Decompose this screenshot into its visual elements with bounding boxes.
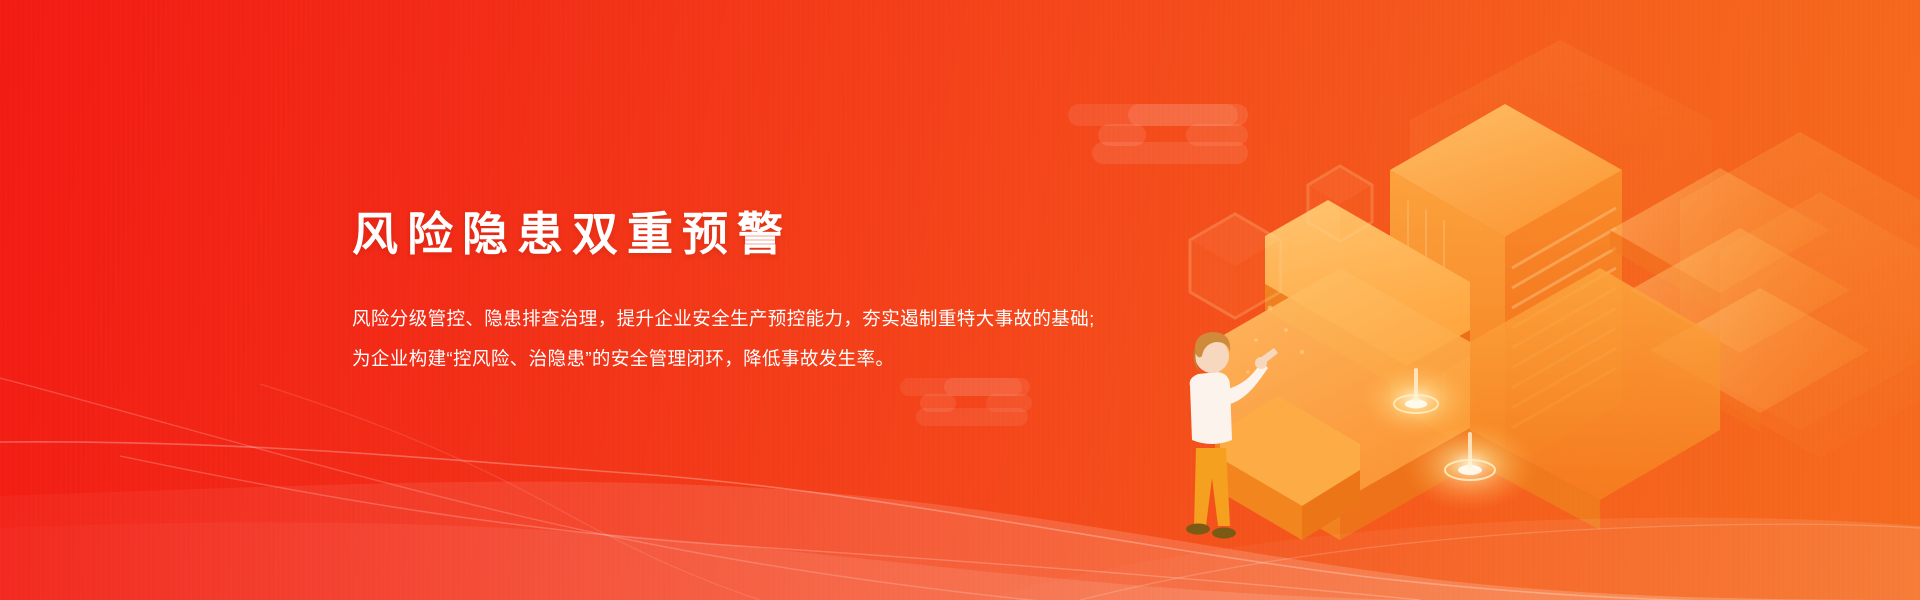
floating-dots: [1246, 306, 1304, 374]
cloud-bar: [1128, 104, 1248, 126]
subtitle-group: 风险分级管控、隐患排查治理，提升企业安全生产预控能力，夯实遏制重特大事故的基础;…: [352, 299, 1232, 379]
cloud-bar: [1068, 104, 1238, 126]
tower-cluster-right: [1680, 132, 1920, 458]
wave-line-4: [1080, 524, 1920, 600]
subtitle-line-2: 为企业构建“控风险、治隐患”的安全管理闭环，降低事故发生率。: [352, 339, 1232, 379]
wave-line-2: [0, 378, 1280, 600]
cloud-bar: [944, 378, 1030, 396]
promo-banner: 风险隐患双重预警 风险分级管控、隐患排查治理，提升企业安全生产预控能力，夯实遏制…: [0, 0, 1920, 600]
stepped-plates: [1610, 168, 1870, 432]
isometric-city-illustration: [1160, 0, 1920, 600]
wave-line-5: [260, 384, 760, 600]
central-tower: [1390, 104, 1622, 470]
cloud-bar: [986, 394, 1032, 412]
wave-fill-primary: [0, 482, 1920, 600]
cloud-bar: [920, 394, 956, 412]
wave-fill-secondary: [0, 522, 1920, 600]
glow-light-point-upper: [1354, 358, 1478, 442]
chinese-cloud-motif-lower: [900, 378, 1080, 424]
hexagon-cube-motif-small: [1308, 166, 1372, 241]
chinese-cloud-motif-top: [1068, 104, 1308, 168]
cloud-bar: [1186, 124, 1248, 146]
tilted-box: [1220, 396, 1360, 540]
cloud-bar: [900, 378, 1022, 396]
banner-text-block: 风险隐患双重预警 风险分级管控、隐患排查治理，提升企业安全生产预控能力，夯实遏制…: [352, 208, 1232, 379]
background-cube-far: [1410, 40, 1712, 400]
cloud-bar: [1098, 124, 1146, 146]
cloud-bar: [1092, 142, 1248, 164]
wave-line-3: [120, 456, 1420, 600]
bright-arm-block: [1265, 200, 1470, 392]
glow-light-point-lower: [1402, 419, 1538, 511]
wave-line-1: [0, 442, 1920, 600]
subtitle-line-1: 风险分级管控、隐患排查治理，提升企业安全生产预控能力，夯实遏制重特大事故的基础;: [352, 299, 1232, 339]
wave-fill-right: [980, 518, 1920, 600]
page-title: 风险隐患双重预警: [352, 208, 1232, 261]
lower-block-group: [1215, 268, 1720, 540]
cloud-bar: [916, 408, 1028, 426]
